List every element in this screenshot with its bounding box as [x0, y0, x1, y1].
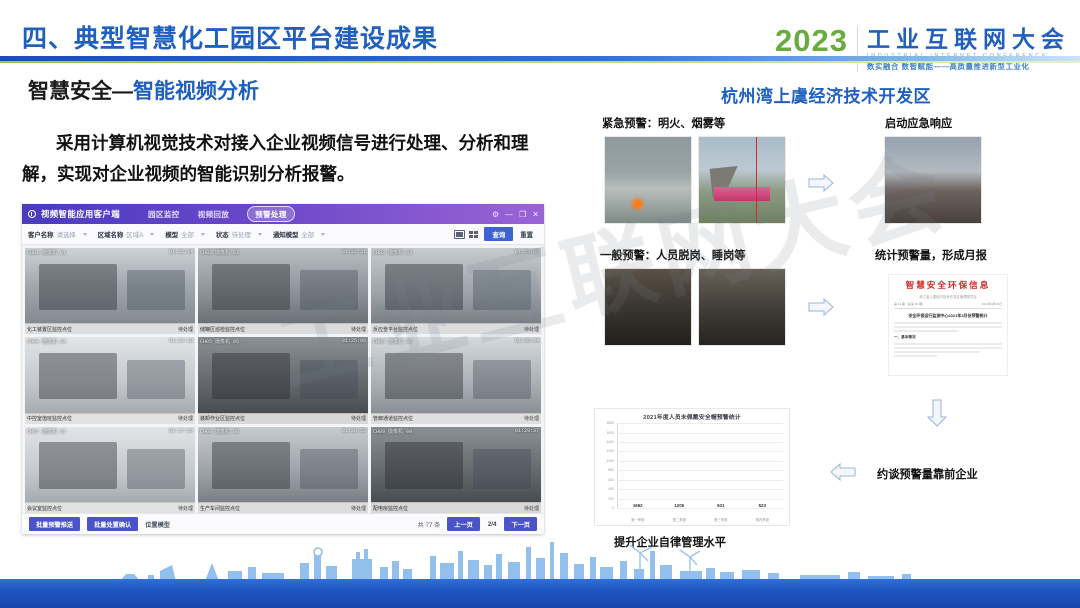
chevron-down-icon[interactable] — [321, 233, 325, 236]
filter-status-value: 待处理 — [232, 230, 251, 239]
filter-model-label: 模型 — [165, 230, 178, 239]
video-caption-text: 装卸作业区监控点位 — [200, 415, 245, 422]
batch-confirm-button[interactable]: 批量处置确认 — [87, 517, 138, 531]
section-heading: 智慧安全—智能视频分析 — [28, 75, 259, 105]
label-emergency-response: 启动应急响应 — [885, 115, 952, 131]
chevron-down-icon[interactable] — [258, 233, 262, 236]
app-bottom-bar: 批量预警推送 批量处置确认 位置模型 共 77 条 上一页 2/4 下一页 — [22, 513, 544, 534]
grid-view-icon[interactable] — [468, 230, 479, 239]
document-date: 2021年4月15日 — [981, 302, 1002, 306]
video-caption: 反应釜平台监控点位 待处理 — [371, 323, 541, 334]
tab-park-monitoring[interactable]: 园区监控 — [148, 209, 180, 220]
photo-sleeping-on-duty — [698, 268, 786, 346]
chart-title: 2021年度人员未佩戴安全帽预警统计 — [595, 412, 789, 421]
chart-bar-value: 1205 — [674, 503, 684, 508]
prev-page-button[interactable]: 上一页 — [447, 517, 480, 531]
chart-ytick: 400 — [608, 487, 614, 491]
filter-customer-name-value: 请选择 — [57, 230, 76, 239]
page-title: 四、典型智慧化工园区平台建设成果 — [22, 19, 438, 55]
footer-water-band — [0, 579, 1080, 608]
video-timestamp: CH02 摄像机 02 01:22:31 — [200, 249, 366, 256]
video-channel: CH06 摄像机 06 — [373, 338, 412, 345]
chart-ytick: 1000 — [606, 459, 614, 463]
photo-firefighters — [884, 136, 982, 224]
video-caption: 会议室监控点位 待处理 — [25, 502, 195, 513]
chart-bar-value: 631 — [717, 503, 724, 508]
chart-ytick: 0 — [612, 506, 614, 510]
list-view-icon[interactable] — [454, 230, 465, 239]
left-column: 智慧安全—智能视频分析 采用计算机视觉技术对接入企业视频信号进行处理、分析和理解… — [0, 66, 572, 546]
video-scene — [198, 248, 368, 334]
label-general-alarm: 一般预警：人员脱岗、睡岗等 — [600, 247, 745, 263]
video-clock: 01:22:31 — [342, 249, 366, 256]
chart-xtick: 第四季度 — [751, 517, 773, 522]
close-icon[interactable]: ✕ — [532, 210, 539, 219]
video-caption-text: 配电房监控点位 — [373, 505, 408, 512]
position-model-label: 位置模型 — [145, 520, 170, 529]
video-caption: 生产车间监控点位 待处理 — [198, 502, 368, 513]
chart-ytick: 1400 — [606, 440, 614, 444]
chart-plot-area: 0 200 400 600 800 1000 1200 1400 1600 18… — [617, 424, 783, 509]
video-caption-status: 待处理 — [351, 326, 366, 333]
video-channel: CH03 摄像机 03 — [373, 249, 412, 256]
label-interview-companies: 约谈预警量靠前企业 — [877, 466, 978, 482]
filter-customer-name[interactable]: 客户名称 请选择 — [28, 230, 94, 239]
video-cell[interactable]: CH07 摄像机 07 01:27:29 会议室监控点位 待处理 — [25, 427, 195, 513]
photo-unattended-post — [604, 268, 692, 346]
video-scene — [371, 248, 541, 334]
document-title: 智慧安全环保信息 — [894, 279, 1002, 291]
video-cell[interactable]: CH08 摄像机 08 01:28:53 生产车间监控点位 待处理 — [198, 427, 368, 513]
filter-area-name[interactable]: 区域名称 区域A — [98, 230, 162, 239]
batch-alarm-push-button[interactable]: 批量预警推送 — [29, 517, 80, 531]
document-text-line — [894, 355, 937, 357]
video-caption: 中控室值班监控点位 待处理 — [25, 413, 195, 424]
monthly-report-document: 智慧安全环保信息 浙江省上虞经济技术开发区管理委员会 第 12 期（总第 36 … — [888, 274, 1008, 376]
chart-bar-value: 1662 — [633, 503, 643, 508]
video-channel: CH09 摄像机 09 — [373, 428, 412, 435]
video-caption-status: 待处理 — [524, 415, 539, 422]
video-clock: 01:27:29 — [169, 428, 193, 435]
document-text-line — [894, 326, 1002, 328]
photo-open-flame — [604, 136, 692, 224]
video-caption-text: 化工装置区监控点位 — [27, 326, 72, 333]
red-marker-line — [756, 137, 757, 223]
video-scene — [371, 337, 541, 423]
filter-status[interactable]: 状态 待处理 — [216, 230, 269, 239]
video-caption-status: 待处理 — [524, 326, 539, 333]
arrow-left-icon — [830, 463, 856, 481]
section-heading-accent: 智能视频分析 — [133, 80, 259, 103]
video-cell[interactable]: CH09 摄像机 09 01:29:37 配电房监控点位 待处理 — [371, 427, 541, 513]
video-caption: 装卸作业区监控点位 待处理 — [198, 413, 368, 424]
tab-video-playback[interactable]: 视频回放 — [198, 209, 230, 220]
filter-area-name-value: 区域A — [126, 230, 143, 239]
label-monthly-report: 统计预警量，形成月报 — [875, 247, 987, 263]
video-caption: 配电房监控点位 待处理 — [371, 502, 541, 513]
video-caption-text: 会议室监控点位 — [27, 505, 62, 512]
document-text-line — [894, 330, 959, 332]
video-grid: CH01 摄像机 01 01:22:14 化工装置区监控点位 待处理 CH02 … — [22, 245, 544, 513]
app-logo-icon — [28, 210, 36, 218]
video-clock: 01:24:18 — [169, 338, 193, 345]
document-meta: 第 12 期（总第 36 期） 2021年4月15日 — [894, 302, 1002, 309]
video-scene — [25, 248, 195, 334]
settings-icon[interactable]: ⚙ — [492, 210, 499, 219]
filter-status-label: 状态 — [216, 230, 229, 239]
chart-xtick: 第三季度 — [710, 517, 732, 522]
reset-button[interactable]: 重置 — [520, 230, 533, 239]
video-timestamp: CH07 摄像机 07 01:27:29 — [27, 428, 193, 435]
app-name: 视频智能应用客户端 — [41, 208, 120, 220]
photo-smoke — [698, 136, 786, 224]
video-timestamp: CH01 摄像机 01 01:22:14 — [27, 249, 193, 256]
right-column: 杭州湾上虞经济技术开发区 紧急预警：明火、烟雾等 启动应急响应 一般预警：人员脱… — [572, 66, 1080, 546]
video-timestamp: CH03 摄像机 03 01:23:02 — [373, 249, 539, 256]
video-caption: 储罐区巡检监控点位 待处理 — [198, 323, 368, 334]
video-cell[interactable]: CH05 摄像机 05 01:25:06 装卸作业区监控点位 待处理 — [198, 337, 368, 423]
chart-x-labels: 第一季度 第二季度 第三季度 第四季度 — [617, 517, 783, 522]
slide-header: 四、典型智慧化工园区平台建设成果 2023 中国·苏州 8月11日-13日 工业… — [0, 0, 1080, 62]
video-clock: 01:22:14 — [169, 249, 193, 256]
video-scene — [198, 427, 368, 513]
video-cell[interactable]: CH03 摄像机 03 01:23:02 反应釜平台监控点位 待处理 — [371, 248, 541, 334]
video-channel: CH05 摄像机 05 — [200, 338, 239, 345]
video-caption-status: 待处理 — [178, 326, 193, 333]
total-count-label: 共 77 条 — [418, 520, 441, 529]
document-subtitle: 浙江省上虞经济技术开发区管理委员会 — [894, 294, 1002, 299]
filter-model[interactable]: 模型 全部 — [165, 230, 212, 239]
chevron-down-icon[interactable] — [83, 233, 87, 236]
video-scene — [371, 427, 541, 513]
video-caption-text: 反应釜平台监控点位 — [373, 326, 418, 333]
arrow-right-icon — [808, 298, 834, 316]
video-channel: CH08 摄像机 08 — [200, 428, 239, 435]
video-clock: 01:28:53 — [342, 428, 366, 435]
chart-ytick: 600 — [608, 478, 614, 482]
document-heading: 安全环保运行监测中心2021年3月份预警统计 — [894, 313, 1002, 319]
video-timestamp: CH04 摄像机 04 01:24:18 — [27, 338, 193, 345]
filter-notify-model-value: 全部 — [301, 230, 314, 239]
arrow-right-icon — [808, 174, 834, 192]
filter-model-value: 全部 — [181, 230, 194, 239]
video-channel: CH04 摄像机 04 — [27, 338, 66, 345]
window-controls: ⚙ — ❐ ✕ — [492, 204, 539, 224]
document-text-line — [894, 351, 980, 353]
pink-machine-shape — [714, 187, 769, 201]
video-channel: CH02 摄像机 02 — [200, 249, 239, 256]
video-caption-text: 生产车间监控点位 — [200, 505, 240, 512]
app-tabs: 园区监控 视频回放 预警处理 — [148, 206, 295, 222]
video-cell[interactable]: CH04 摄像机 04 01:24:18 中控室值班监控点位 待处理 — [25, 337, 195, 423]
chart-ytick: 200 — [608, 497, 614, 501]
video-scene — [25, 337, 195, 423]
video-scene — [25, 427, 195, 513]
video-cell[interactable]: CH01 摄像机 01 01:22:14 化工装置区监控点位 待处理 — [25, 248, 195, 334]
video-app-window: 视频智能应用客户端 园区监控 视频回放 预警处理 ⚙ — ❐ ✕ 客户名称 请选… — [22, 204, 544, 534]
video-clock: 01:23:02 — [515, 249, 539, 256]
logo-year: 2023 — [775, 26, 848, 56]
label-urgent-alarm: 紧急预警：明火、烟雾等 — [602, 115, 725, 131]
view-toggle-group — [454, 230, 479, 239]
video-caption-status: 待处理 — [351, 505, 366, 512]
chart-ytick: 1200 — [606, 449, 614, 453]
video-cell[interactable]: CH06 摄像机 06 01:26:44 管廊通道监控点位 待处理 — [371, 337, 541, 423]
video-cell[interactable]: CH02 摄像机 02 01:22:31 储罐区巡检监控点位 待处理 — [198, 248, 368, 334]
page-indicator: 2/4 — [488, 521, 497, 528]
video-timestamp: CH09 摄像机 09 01:29:37 — [373, 428, 539, 435]
video-timestamp: CH06 摄像机 06 01:26:44 — [373, 338, 539, 345]
video-timestamp: CH08 摄像机 08 01:28:53 — [200, 428, 366, 435]
arrow-down-icon — [927, 399, 947, 427]
chart-ytick: 1600 — [606, 431, 614, 435]
video-caption: 管廊通道监控点位 待处理 — [371, 413, 541, 424]
document-subheading: 一、基本情况 — [894, 335, 1002, 340]
video-caption-text: 储罐区巡检监控点位 — [200, 326, 245, 333]
document-issue: 第 12 期（总第 36 期） — [894, 302, 925, 306]
app-filter-bar: 客户名称 请选择 区域名称 区域A 模型 全部 状态 待处理 通知模型 — [22, 224, 544, 245]
alarm-statistics-chart: 2021年度人员未佩戴安全帽预警统计 0 200 400 600 800 100… — [594, 408, 790, 526]
section-body-text: 采用计算机视觉技术对接入企业视频信号进行处理、分析和理解，实现对企业视频的智能识… — [22, 128, 552, 190]
chart-ytick: 800 — [608, 468, 614, 472]
logo-name-cn: 工业互联网大会 — [867, 27, 1070, 51]
slide-footer — [0, 544, 1080, 608]
document-text-line — [894, 343, 1002, 345]
video-scene — [198, 337, 368, 423]
header-rule-green — [0, 61, 1080, 63]
filter-notify-model-label: 通知模型 — [273, 230, 299, 239]
video-channel: CH01 摄像机 01 — [27, 249, 66, 256]
document-text-line — [894, 322, 1002, 324]
maximize-icon[interactable]: ❐ — [519, 210, 526, 219]
tab-alarm-handling[interactable]: 预警处理 — [247, 206, 295, 222]
video-timestamp: CH05 摄像机 05 01:25:06 — [200, 338, 366, 345]
search-button[interactable]: 查询 — [484, 227, 513, 241]
chevron-down-icon[interactable] — [150, 233, 154, 236]
chart-ytick: 1800 — [606, 421, 614, 425]
video-clock: 01:26:44 — [515, 338, 539, 345]
next-page-button[interactable]: 下一页 — [504, 517, 537, 531]
section-heading-main: 智慧安全— — [28, 80, 133, 103]
video-caption-status: 待处理 — [178, 505, 193, 512]
chart-xtick: 第一季度 — [627, 517, 649, 522]
video-clock: 01:25:06 — [342, 338, 366, 345]
minimize-icon[interactable]: — — [505, 210, 513, 219]
chart-xtick: 第二季度 — [668, 517, 690, 522]
video-caption-text: 中控室值班监控点位 — [27, 415, 72, 422]
filter-customer-name-label: 客户名称 — [28, 230, 54, 239]
chevron-down-icon[interactable] — [201, 233, 205, 236]
city-skyline-decoration — [0, 541, 1080, 581]
video-caption-status: 待处理 — [178, 415, 193, 422]
document-text-line — [894, 347, 1002, 349]
video-caption-status: 待处理 — [351, 415, 366, 422]
video-caption-text: 管廊通道监控点位 — [373, 415, 413, 422]
right-panel-title: 杭州湾上虞经济技术开发区 — [572, 82, 1080, 107]
video-caption: 化工装置区监控点位 待处理 — [25, 323, 195, 334]
video-caption-status: 待处理 — [524, 505, 539, 512]
video-clock: 01:29:37 — [515, 428, 539, 435]
filter-notify-model[interactable]: 通知模型 全部 — [273, 230, 332, 239]
video-channel: CH07 摄像机 07 — [27, 428, 66, 435]
chart-bars: 1662 1205 631 523 — [617, 424, 783, 509]
app-titlebar: 视频智能应用客户端 园区监控 视频回放 预警处理 ⚙ — ❐ ✕ — [22, 204, 544, 224]
filter-area-name-label: 区域名称 — [98, 230, 124, 239]
chart-bar-value: 523 — [759, 503, 766, 508]
